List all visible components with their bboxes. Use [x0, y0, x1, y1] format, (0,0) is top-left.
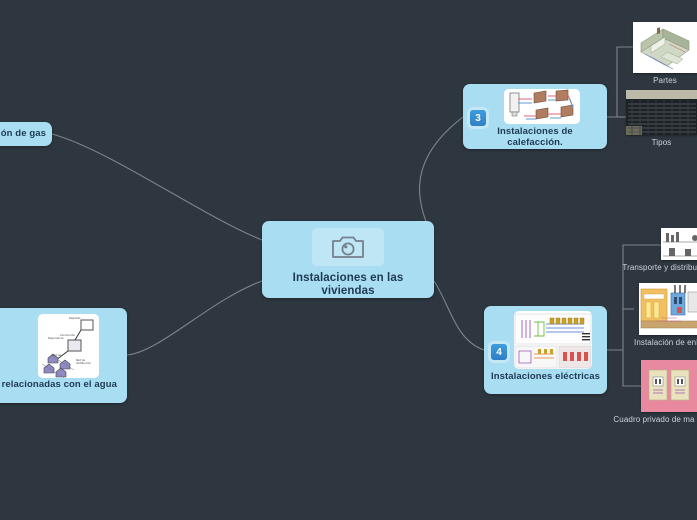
edge-electrical-cuadro — [623, 350, 641, 386]
3d-room-floorplan-image[interactable] — [633, 22, 697, 73]
mindmap-canvas[interactable]: Instalaciones en las viviendas ción de g… — [0, 0, 697, 520]
power-grid-diagram-image[interactable] — [661, 228, 697, 260]
central-node-image-placeholder[interactable] — [312, 228, 384, 266]
edge-center-electrical — [434, 281, 484, 350]
edge-center-water — [127, 281, 262, 355]
central-node[interactable]: Instalaciones en las viviendas — [262, 221, 434, 298]
branch-node-gas[interactable]: ción de gas — [0, 122, 52, 146]
radiant-floor-photo-image[interactable] — [626, 90, 697, 135]
leaf-node-partes-label: Partes — [653, 76, 677, 85]
leaf-node-tipos[interactable]: Tipos — [626, 90, 697, 147]
branch-node-gas-title: ción de gas — [0, 129, 52, 140]
leaf-node-tipos-label: Tipos — [652, 138, 672, 147]
branch-node-electrical-title: Instalaciones eléctricas — [491, 372, 600, 383]
meter-connection-illustration-image[interactable] — [639, 283, 697, 335]
branch-badge-electrical: 4 — [491, 344, 507, 360]
svg-text:Red de: Red de — [52, 353, 61, 357]
branch-node-electrical[interactable]: 4 — [484, 306, 607, 394]
leaf-node-cuadro[interactable]: Cuadro privado de ma — [641, 360, 697, 424]
breaker-panel-photo-image[interactable] — [641, 360, 697, 412]
branch-node-water-title: iones relacionadas con el agua — [0, 380, 121, 391]
svg-text:distribución: distribución — [76, 361, 92, 365]
leaf-node-partes[interactable]: Partes — [633, 22, 697, 85]
water-network-diagram-image[interactable]: Depósito Conducción Depuradora Red de Re… — [38, 314, 99, 378]
branch-node-heating-title: Instalaciones de calefacción. — [469, 127, 601, 149]
leaf-node-enlace[interactable]: Instalación de enlac — [634, 283, 697, 347]
leaf-node-transporte[interactable]: Transporte y distribució — [661, 228, 697, 272]
edge-center-gas — [52, 134, 262, 240]
leaf-node-enlace-label: Instalación de enlac — [634, 338, 697, 347]
branch-node-heating[interactable]: 3 — [463, 84, 607, 149]
branch-badge-heating: 3 — [470, 110, 486, 126]
leaf-node-cuadro-label: Cuadro privado de ma — [613, 415, 694, 424]
radiator-loop-diagram-image[interactable] — [504, 89, 580, 124]
branch-node-water[interactable]: Depósito Conducción Depuradora Red de Re… — [0, 308, 127, 403]
svg-text:Depósito: Depósito — [69, 316, 81, 320]
wiring-schematic-collage-image[interactable] — [514, 311, 592, 369]
central-node-title: Instalaciones en las viviendas — [270, 272, 426, 298]
svg-text:Depuradora: Depuradora — [48, 336, 64, 340]
camera-icon — [331, 233, 365, 261]
leaf-node-transporte-label: Transporte y distribució — [622, 263, 697, 272]
